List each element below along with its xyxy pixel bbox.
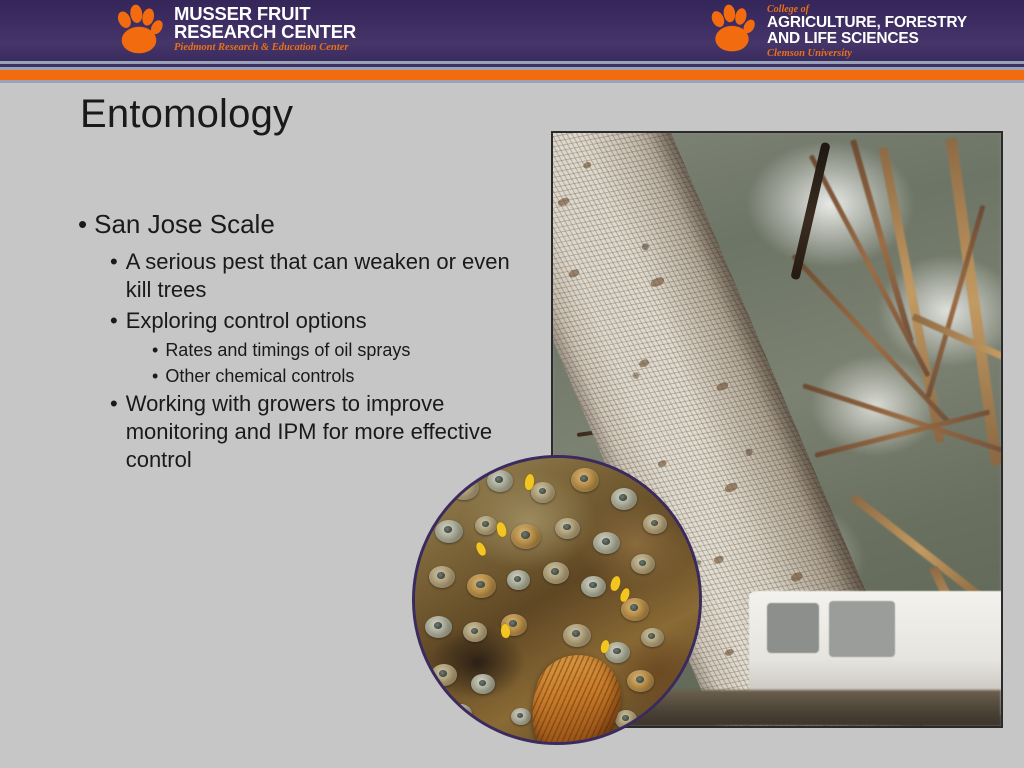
bullet-level2-exploring-control-options: • Exploring control options	[110, 307, 528, 335]
musser-logo-text: MUSSER FRUIT RESEARCH CENTER Piedmont Re…	[174, 3, 356, 54]
truck-window-rear	[767, 603, 819, 653]
clemson-logo-subtitle: Clemson University	[767, 48, 967, 60]
bullet-marker-icon: •	[110, 390, 118, 474]
clemson-tiger-paw-icon	[706, 3, 758, 55]
bullet-marker-icon: •	[78, 208, 87, 241]
bullet-marker-icon: •	[152, 338, 158, 363]
clemson-tiger-paw-icon	[112, 3, 166, 57]
musser-logo-line2: RESEARCH CENTER	[174, 23, 356, 41]
bullet-level3-other-chemical-controls: • Other chemical controls	[152, 364, 528, 389]
bullet-level2-serious-pest: • A serious pest that can weaken or even…	[110, 248, 528, 304]
clemson-logo-text: College of AGRICULTURE, FORESTRY AND LIF…	[767, 3, 967, 60]
bullet-level2-text: A serious pest that can weaken or even k…	[126, 248, 528, 304]
bullet-level3-rates-and-timings: • Rates and timings of oil sprays	[152, 338, 528, 363]
bullet-marker-icon: •	[152, 364, 158, 389]
bullet-list: • San Jose Scale • A serious pest that c…	[78, 208, 528, 477]
header-banner: MUSSER FRUIT RESEARCH CENTER Piedmont Re…	[0, 0, 1024, 61]
musser-logo-subtitle: Piedmont Research & Education Center	[174, 42, 356, 54]
bullet-level3-text: Rates and timings of oil sprays	[165, 338, 528, 363]
bullet-level2-text: Exploring control options	[126, 307, 528, 335]
header-stripe-light-bottom	[0, 80, 1024, 83]
photo-scale-closeup	[412, 455, 702, 745]
bullet-marker-icon: •	[110, 307, 118, 335]
page-title: Entomology	[80, 90, 293, 138]
bullet-level1-text: San Jose Scale	[94, 208, 528, 241]
bullet-level3-text: Other chemical controls	[165, 364, 528, 389]
musser-logo: MUSSER FRUIT RESEARCH CENTER Piedmont Re…	[112, 3, 356, 57]
clemson-cafls-logo: College of AGRICULTURE, FORESTRY AND LIF…	[706, 3, 967, 60]
truck-window-front	[829, 601, 895, 657]
clemson-logo-line2: AND LIFE SCIENCES	[767, 31, 967, 47]
header-stripe-orange	[0, 70, 1024, 80]
bullet-marker-icon: •	[110, 248, 118, 304]
clemson-logo-line1: AGRICULTURE, FORESTRY	[767, 15, 967, 31]
bullet-level1-san-jose-scale: • San Jose Scale	[78, 208, 528, 241]
